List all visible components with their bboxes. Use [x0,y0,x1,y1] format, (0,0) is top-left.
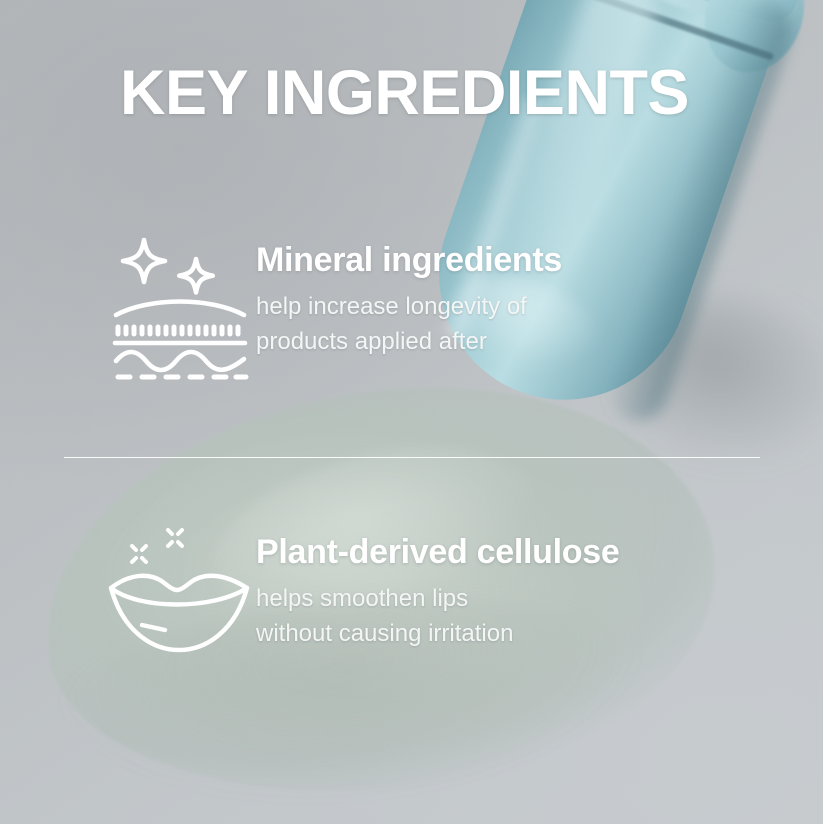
feature-block-mineral-ingredients: Mineral ingredients help increase longev… [104,228,562,382]
sparkle-large-icon [123,240,165,282]
feature-line: without causing irritation [256,616,619,651]
skin-layers-icon-wrap [104,228,256,382]
feature-heading: Plant-derived cellulose [256,534,619,571]
skin-cells-row [118,327,238,334]
lip-highlight-dash [142,625,165,630]
upper-lip-outline [111,576,247,590]
sparkle-small-icon [179,259,212,292]
feature-text-mineral-ingredients: Mineral ingredients help increase longev… [256,228,562,359]
feature-line: helps smoothen lips [256,581,619,616]
feature-text-plant-derived-cellulose: Plant-derived cellulose helps smoothen l… [256,520,619,651]
feature-heading: Mineral ingredients [256,242,562,279]
feature-block-plant-derived-cellulose: Plant-derived cellulose helps smoothen l… [104,520,619,664]
key-ingredients-infographic: KEY INGREDIENTS [0,0,823,824]
smiling-lips-icon [105,524,255,664]
skin-wave-line [116,352,244,370]
feature-line: products applied after [256,324,562,359]
smiling-lips-icon-wrap [104,520,256,664]
skin-surface-arc [116,302,244,316]
overlay-content: KEY INGREDIENTS [0,0,823,824]
sparkle-dots-right-icon [168,530,182,546]
feature-line: help increase longevity of [256,289,562,324]
skin-layers-icon [110,232,250,382]
section-divider [64,457,760,458]
sparkle-dots-left-icon [132,546,146,562]
page-title: KEY INGREDIENTS [120,62,689,125]
